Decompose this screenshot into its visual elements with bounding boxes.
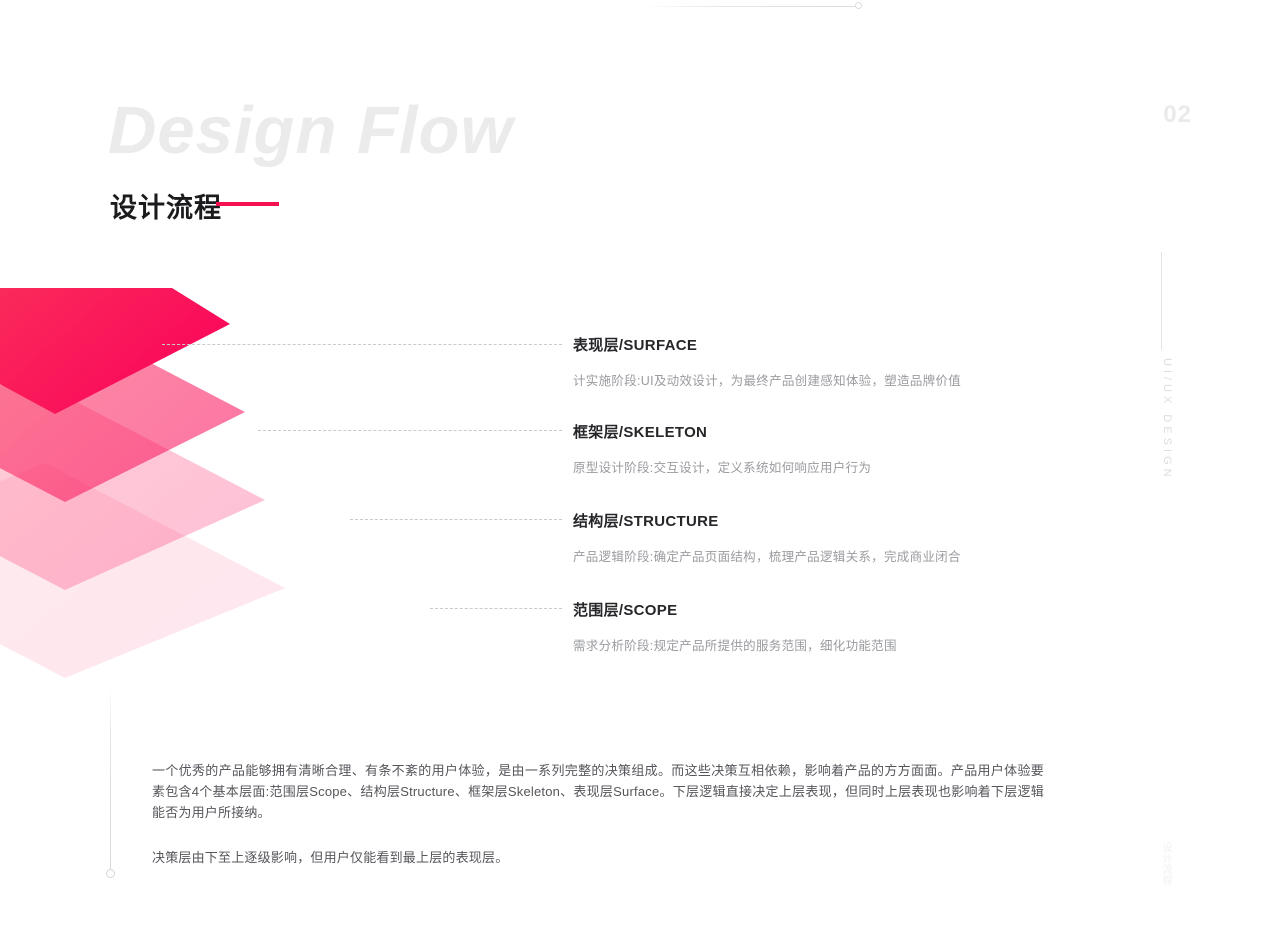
layer-stack-graphic [0, 288, 345, 688]
connector-line-structure [350, 519, 562, 520]
connector-line-skeleton [258, 430, 562, 431]
rail-vertical-label: UI/UX DESIGN [1161, 358, 1173, 481]
layer-item-surface: 表现层/SURFACE 计实施阶段:UI及动效设计，为最终产品创建感知体验，塑造… [573, 334, 961, 389]
connector-line-scope [430, 608, 562, 609]
page-title: 设计流程 [110, 186, 222, 225]
top-divider-dot-icon [855, 2, 862, 9]
layer-item-scope: 范围层/SCOPE 需求分析阶段:规定产品所提供的服务范围，细化功能范围 [573, 599, 897, 654]
title-accent-underline [216, 202, 279, 206]
layer-item-skeleton: 框架层/SKELETON 原型设计阶段:交互设计，定义系统如何响应用户行为 [573, 421, 871, 476]
bottom-guide-line [110, 685, 111, 871]
page-title-ghost: Design Flow [108, 92, 514, 169]
layer-title: 框架层/SKELETON [573, 421, 871, 442]
rail-watermark: 设计流程 [1158, 842, 1172, 886]
layer-description: 计实施阶段:UI及动效设计，为最终产品创建感知体验，塑造品牌价值 [573, 370, 961, 389]
slide-canvas: Design Flow 设计流程 [0, 0, 1280, 933]
layer-description: 原型设计阶段:交互设计，定义系统如何响应用户行为 [573, 457, 871, 476]
layer-description: 产品逻辑阶段:确定产品页面结构，梳理产品逻辑关系，完成商业闭合 [573, 546, 961, 565]
top-divider-line [640, 6, 858, 7]
rail-divider-line [1161, 252, 1162, 350]
layer-title: 结构层/STRUCTURE [573, 510, 961, 531]
body-paragraph-1: 一个优秀的产品能够拥有清晰合理、有条不紊的用户体验，是由一系列完整的决策组成。而… [152, 760, 1044, 823]
page-number: 02 [1163, 101, 1192, 129]
body-text-block: 一个优秀的产品能够拥有清晰合理、有条不紊的用户体验，是由一系列完整的决策组成。而… [152, 760, 1044, 868]
body-paragraph-2: 决策层由下至上逐级影响，但用户仅能看到最上层的表现层。 [152, 847, 1044, 868]
connector-line-surface [162, 344, 562, 345]
bottom-guide-dot-icon [106, 869, 115, 878]
layer-item-structure: 结构层/STRUCTURE 产品逻辑阶段:确定产品页面结构，梳理产品逻辑关系，完… [573, 510, 961, 565]
layer-title: 范围层/SCOPE [573, 599, 897, 620]
layer-description: 需求分析阶段:规定产品所提供的服务范围，细化功能范围 [573, 635, 897, 654]
layer-title: 表现层/SURFACE [573, 334, 961, 355]
